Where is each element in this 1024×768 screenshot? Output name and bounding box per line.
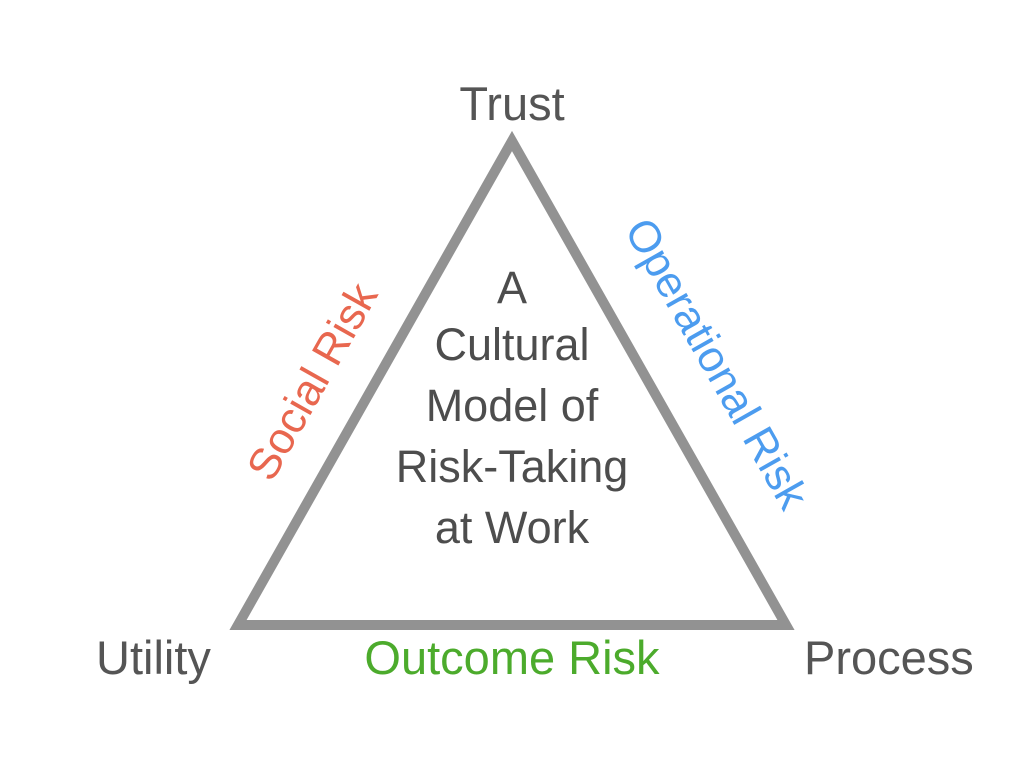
center-text-line-4: Risk-Taking xyxy=(262,436,762,497)
center-text-line-2: Cultural xyxy=(262,314,762,375)
center-text-block: A Cultural Model of Risk-Taking at Work xyxy=(262,262,762,558)
center-text-line-1: A xyxy=(262,262,762,314)
center-text-line-5: at Work xyxy=(262,497,762,558)
diagram-canvas: Trust Utility Process Social Risk Operat… xyxy=(0,0,1024,768)
edge-label-outcome-risk: Outcome Risk xyxy=(0,634,1024,681)
vertex-label-trust: Trust xyxy=(0,80,1024,127)
center-text-line-3: Model of xyxy=(262,375,762,436)
